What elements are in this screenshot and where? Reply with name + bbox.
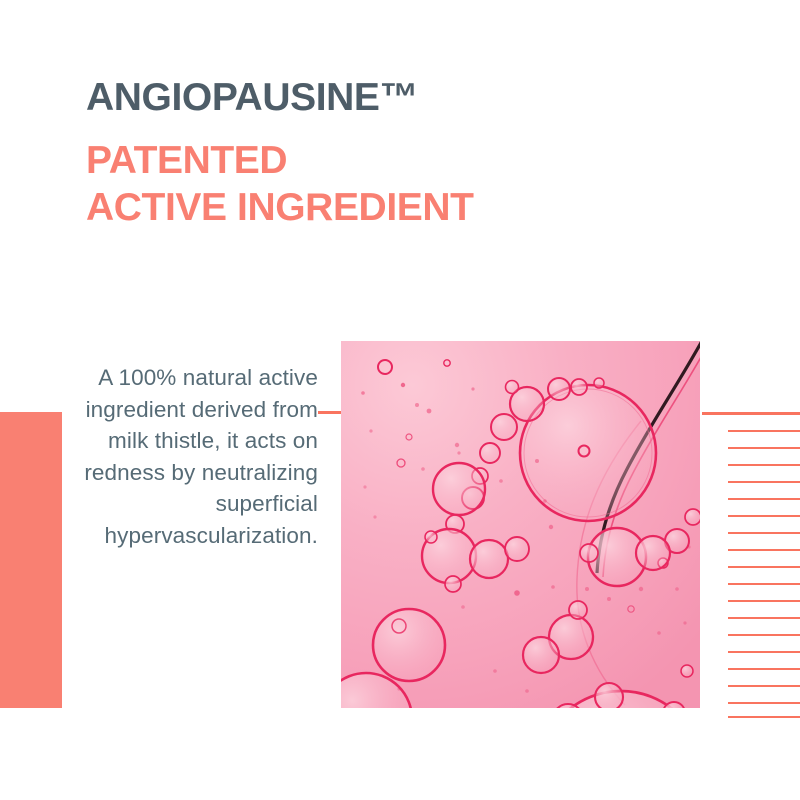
page-title: ANGIOPAUSINE™: [86, 74, 726, 121]
subtitle-active-ingredient: ACTIVE INGREDIENT: [86, 184, 726, 231]
decorative-line: [728, 583, 800, 585]
decorative-line: [728, 430, 800, 432]
decorative-line: [728, 702, 800, 704]
decorative-line: [728, 600, 800, 602]
decorative-line: [728, 634, 800, 636]
decorative-line: [702, 412, 800, 415]
decorative-line: [728, 498, 800, 500]
bubbles-photo: [341, 341, 700, 708]
bubbles-photo-graphic: [341, 341, 700, 708]
decorative-line: [728, 447, 800, 449]
decorative-line: [728, 464, 800, 466]
decorative-line: [728, 716, 800, 718]
decorative-line: [728, 532, 800, 534]
decorative-line: [728, 685, 800, 687]
decorative-line: [728, 668, 800, 670]
decorative-line: [728, 515, 800, 517]
subtitle-patented: PATENTED: [86, 137, 726, 184]
decorative-line: [728, 549, 800, 551]
decorative-line-group: [700, 405, 800, 725]
text-to-photo-connector: [318, 411, 343, 414]
poster-canvas: ANGIOPAUSINE™ PATENTED ACTIVE INGREDIENT…: [0, 0, 800, 800]
decorative-line: [728, 617, 800, 619]
decorative-line: [728, 651, 800, 653]
decorative-line: [728, 566, 800, 568]
heading-block: ANGIOPAUSINE™ PATENTED ACTIVE INGREDIENT: [86, 74, 726, 231]
decorative-line: [728, 481, 800, 483]
body-paragraph: A 100% natural active ingredient derived…: [40, 362, 318, 551]
